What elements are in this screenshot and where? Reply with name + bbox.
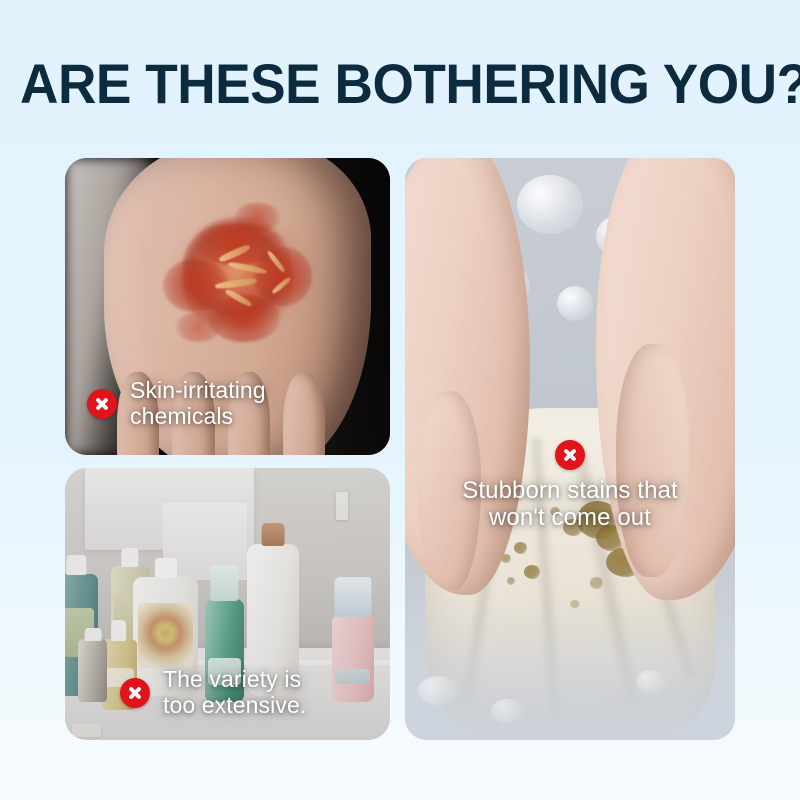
- circle-x-icon: [87, 389, 117, 419]
- caption-too-many-products: The variety is too extensive.: [120, 667, 306, 718]
- problem-card-grid: Skin-irritating chemicals: [65, 158, 735, 740]
- caption-skin-irritation: Skin-irritating chemicals: [87, 378, 266, 429]
- card-too-many-products[interactable]: The variety is too extensive.: [65, 468, 390, 740]
- page-title: ARE THESE BOTHERING YOU?: [20, 56, 780, 112]
- caption-text: The variety is too extensive.: [163, 667, 306, 718]
- caption-text: Stubborn stains that won't come out: [462, 477, 677, 532]
- circle-x-icon: [555, 440, 585, 470]
- card-skin-irritation[interactable]: Skin-irritating chemicals: [65, 158, 390, 455]
- card-stubborn-stains[interactable]: Stubborn stains that won't come out: [405, 158, 735, 740]
- caption-stubborn-stains: Stubborn stains that won't come out: [405, 440, 735, 532]
- circle-x-icon: [120, 678, 150, 708]
- caption-text: Skin-irritating chemicals: [130, 378, 266, 429]
